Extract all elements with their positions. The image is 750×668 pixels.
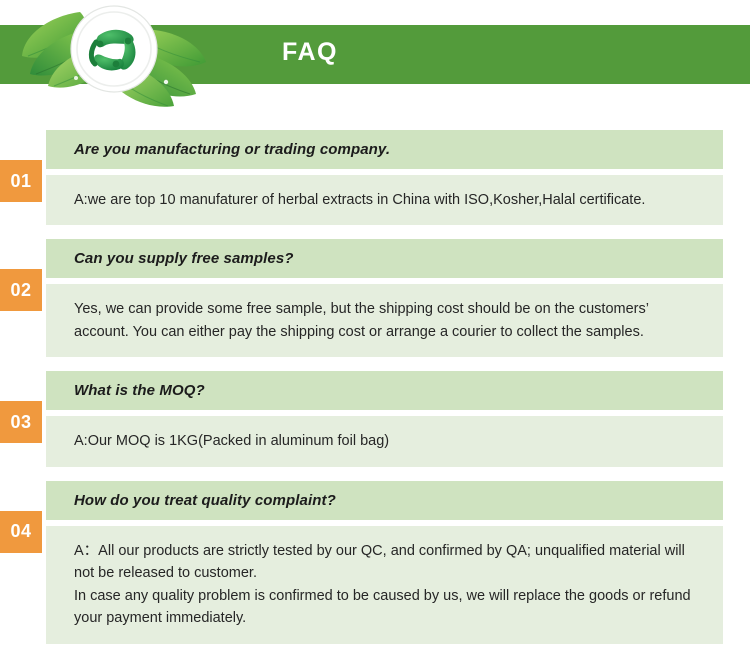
faq-answer: A:Our MOQ is 1KG(Packed in aluminum foil… <box>46 416 723 466</box>
faq-answer: Yes, we can provide some free sample, bu… <box>46 284 723 357</box>
faq-answer: A:we are top 10 manufaturer of herbal ex… <box>46 175 723 225</box>
faq-list: 01 Are you manufacturing or trading comp… <box>0 130 750 658</box>
faq-number-badge: 02 <box>0 269 42 311</box>
faq-question[interactable]: What is the MOQ? <box>46 371 723 410</box>
faq-number-badge: 01 <box>0 160 42 202</box>
faq-question[interactable]: How do you treat quality complaint? <box>46 481 723 520</box>
page-title: FAQ <box>255 38 365 67</box>
faq-item: 04 How do you treat quality complaint? A… <box>0 481 750 644</box>
faq-answer-line: Yes, we can provide some free sample, bu… <box>74 298 705 343</box>
faq-question[interactable]: Are you manufacturing or trading company… <box>46 130 723 169</box>
faq-item: 02 Can you supply free samples? Yes, we … <box>0 239 750 357</box>
page-header: FAQ <box>0 0 750 120</box>
faq-number-badge: 03 <box>0 401 42 443</box>
faq-answer-line: In case any quality problem is confirmed… <box>74 585 705 630</box>
faq-answer-line: A:we are top 10 manufaturer of herbal ex… <box>74 189 705 211</box>
faq-answer: A：All our products are strictly tested b… <box>46 526 723 644</box>
faq-question[interactable]: Can you supply free samples? <box>46 239 723 278</box>
faq-answer-line: A:Our MOQ is 1KG(Packed in aluminum foil… <box>74 430 705 452</box>
faq-number-badge: 04 <box>0 511 42 553</box>
faq-item: 01 Are you manufacturing or trading comp… <box>0 130 750 225</box>
faq-panels: What is the MOQ? A:Our MOQ is 1KG(Packed… <box>46 371 723 466</box>
faq-item: 03 What is the MOQ? A:Our MOQ is 1KG(Pac… <box>0 371 750 466</box>
faq-answer-line: A：All our products are strictly tested b… <box>74 540 705 585</box>
faq-panels: Can you supply free samples? Yes, we can… <box>46 239 723 357</box>
green-leaf-circle-logo <box>18 0 228 110</box>
faq-panels: How do you treat quality complaint? A：Al… <box>46 481 723 644</box>
faq-panels: Are you manufacturing or trading company… <box>46 130 723 225</box>
